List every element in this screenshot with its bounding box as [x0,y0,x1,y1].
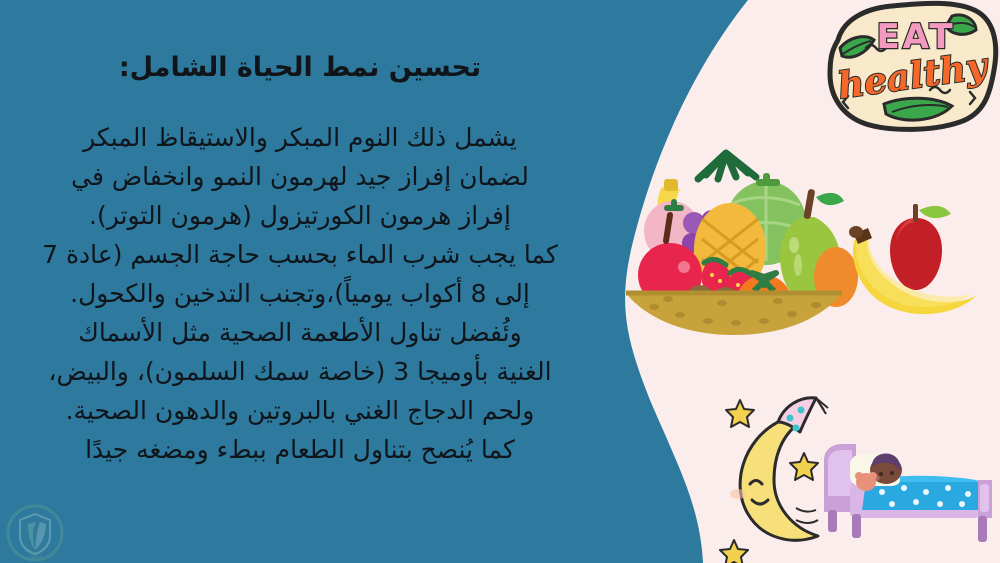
eat-healthy-sticker: EAT healthy [818,0,1000,136]
star-icon [790,453,818,480]
fruit-basket-illustration [614,145,854,335]
kamel-shield-logo: كمل [6,504,64,562]
apple-icon [890,204,951,290]
basket-icon [626,293,842,335]
body-line: يشمل ذلك النوم المبكر والاستيقاظ المبكر [10,118,590,157]
text-column: تحسين نمط الحياة الشامل: يشمل ذلك النوم … [0,0,600,563]
body-paragraph: يشمل ذلك النوم المبكر والاستيقاظ المبكر … [10,118,590,469]
body-line: كما يجب شرب الماء بحسب حاجة الجسم (عادة … [10,235,590,274]
body-line: إلى 8 أكواب يومياً)،وتجنب التدخين والكحو… [10,274,590,313]
body-line: إفراز هرمون الكورتيزول (هرمون التوتر). [10,196,590,235]
logo-wordmark: كمل [27,551,44,561]
body-line: الغنية بأوميجا 3 (خاصة سمك السلمون)، وال… [10,352,590,391]
star-icon [720,540,748,563]
bed-icon [824,444,992,542]
body-line: كما يُنصح بتناول الطعام ببطء ومضغه جيدًا [10,430,590,469]
body-line: وئُفضل تناول الأطعمة الصحية مثل الأسماك [10,313,590,352]
pineapple-icon [698,153,756,179]
sleep-illustration [700,388,1000,563]
body-line: لضمان إفراز جيد لهرمون النمو وانخفاض في [10,157,590,196]
star-icon [726,400,754,427]
body-line: ولحم الدجاج الغني بالبروتين والدهون الصح… [10,391,590,430]
slide-canvas: تحسين نمط الحياة الشامل: يشمل ذلك النوم … [0,0,1000,563]
page-title: تحسين نمط الحياة الشامل: [20,52,580,84]
apple-banana-illustration [836,196,996,328]
